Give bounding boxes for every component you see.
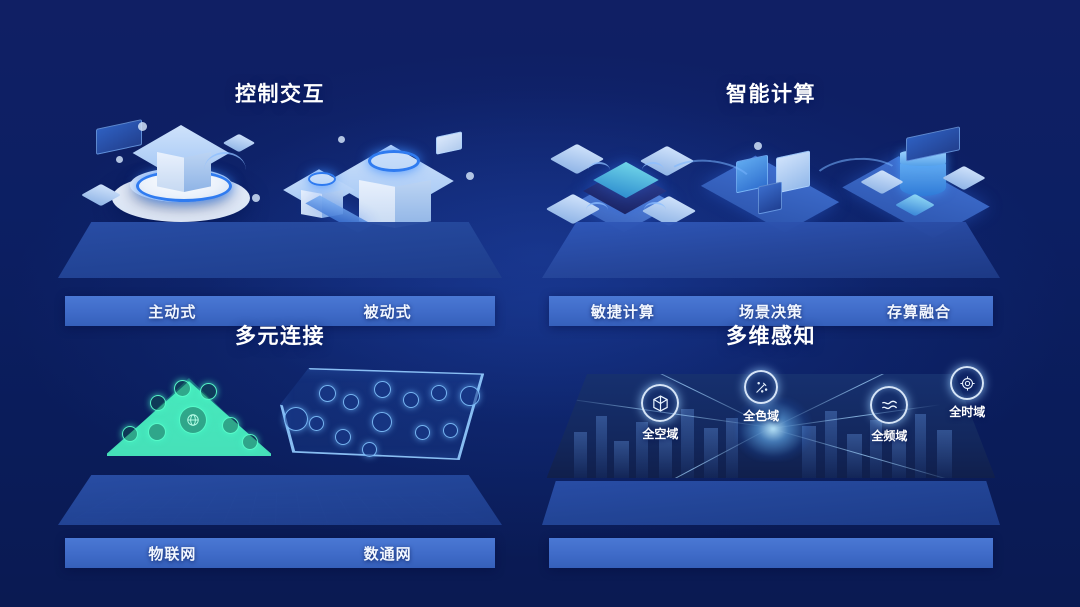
sensor-label: 全频域 [853, 427, 925, 444]
floating-screen [96, 119, 142, 155]
passive-device-illustration [294, 128, 479, 232]
platform-slab [542, 481, 1000, 525]
iot-node-5 [148, 423, 166, 441]
sensor-label: 全色域 [725, 407, 797, 424]
label-iot: 物联网 [65, 543, 280, 564]
building [574, 432, 587, 478]
quadrant-control-interaction: 控制交互 [58, 78, 502, 268]
cube-large-right [395, 180, 431, 228]
label-bar-multidimensional-sensing [549, 538, 993, 568]
illustration-multidimensional-sensing: 全空域 全色域 全频域 [542, 360, 1000, 525]
arrow-tl [588, 162, 610, 178]
building [614, 441, 629, 478]
iot-node-6 [222, 417, 239, 434]
quadrant-title: 多元连接 [58, 320, 502, 350]
illustration-diverse-connection [58, 360, 502, 525]
quadrant-title: 控制交互 [58, 78, 502, 108]
passive-dot-2 [466, 172, 474, 180]
decision-terminal [758, 181, 782, 214]
sensor-label: 全空域 [624, 425, 696, 442]
chip-top [223, 134, 256, 152]
magic-wand-icon [753, 379, 770, 396]
dn-node-2 [343, 394, 359, 410]
arrow-tr [642, 162, 664, 178]
building [892, 438, 905, 478]
platform-slab [58, 222, 502, 278]
building [659, 436, 672, 478]
dn-node-3 [374, 381, 391, 398]
cube-small-ring [308, 172, 336, 186]
illustration-control-interaction [58, 118, 502, 278]
platform-slab [58, 475, 502, 525]
dn-node-4 [403, 392, 419, 408]
label-scene-decision: 场景决策 [697, 301, 845, 322]
iot-node-3 [150, 395, 166, 411]
slide-canvas: 控制交互 [0, 0, 1080, 607]
iot-triangle-network [107, 378, 271, 456]
illustration-intelligent-computing [542, 118, 1000, 278]
iot-node-2 [200, 383, 217, 400]
iot-node-1 [174, 380, 191, 397]
cube-icon [651, 394, 670, 413]
arrow-bl [586, 202, 608, 218]
dn-node-1 [319, 385, 336, 402]
iot-node-7 [242, 434, 258, 450]
dn-node-5 [431, 385, 447, 401]
quadrant-title: 智能计算 [542, 78, 1000, 108]
sensor-ring [641, 384, 679, 422]
cube-left-face [157, 152, 184, 192]
sensor-label: 全时域 [931, 403, 1003, 420]
sensor-ring [744, 370, 778, 404]
dn-node-6 [460, 386, 480, 406]
dn-node-8 [335, 429, 351, 445]
label-storage-fusion: 存算融合 [845, 301, 993, 322]
iot-node-4 [122, 426, 138, 442]
building [937, 430, 952, 478]
label-active: 主动式 [65, 301, 280, 322]
dn-node-9 [372, 412, 392, 432]
floating-card [436, 131, 462, 155]
sensor-time[interactable]: 全时域 [931, 366, 1003, 420]
wave-icon [880, 396, 899, 415]
building [596, 416, 607, 478]
quadrant-multidimensional-sensing: 多维感知 [542, 320, 1000, 510]
connector-wire [204, 152, 246, 188]
data-network-hexagon [280, 368, 484, 460]
quadrant-intelligent-computing: 智能计算 [542, 78, 1000, 268]
globe-icon [186, 413, 200, 427]
dn-node-10 [362, 442, 377, 457]
decor-dot-3 [116, 156, 123, 163]
cube-3d [150, 130, 212, 192]
sensor-frequency[interactable]: 全频域 [853, 386, 925, 444]
sensor-ring [950, 366, 984, 400]
passive-dot-1 [338, 136, 345, 143]
platform-slab [542, 222, 1000, 278]
label-agile-computing: 敏捷计算 [549, 301, 697, 322]
decor-dot-1 [138, 122, 147, 131]
label-data-network: 数通网 [280, 543, 495, 564]
sensor-ring [870, 386, 908, 424]
decor-dot-2 [252, 194, 260, 202]
quadrant-title: 多维感知 [542, 320, 1000, 350]
label-passive: 被动式 [280, 301, 495, 322]
dn-node-7 [309, 416, 324, 431]
label-bar-diverse-connection: 物联网 数通网 [65, 538, 496, 568]
building [704, 428, 718, 478]
cube-large-ring [368, 150, 420, 172]
quadrant-diverse-connection: 多元连接 [58, 320, 502, 510]
dn-node-11 [415, 425, 430, 440]
arrow-br [644, 202, 666, 218]
dn-node-main [284, 407, 308, 431]
sensor-color[interactable]: 全色域 [725, 370, 797, 424]
active-device-illustration [86, 122, 276, 232]
target-icon [959, 375, 976, 392]
sensor-spatial[interactable]: 全空域 [624, 384, 696, 442]
iot-node-globe [179, 406, 207, 434]
decision-dot [754, 142, 762, 150]
